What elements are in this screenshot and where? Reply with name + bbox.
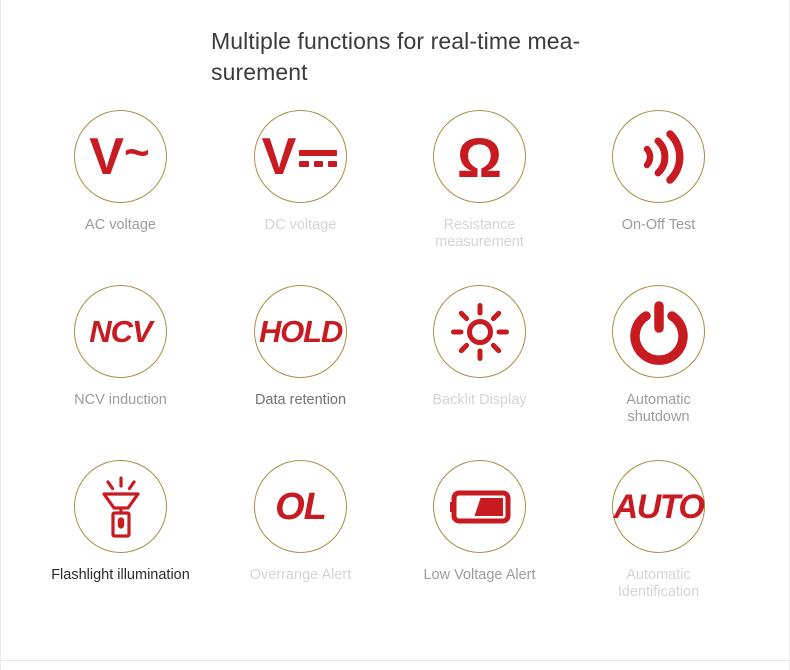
feature-infographic: Multiple functions for real-time mea- su… — [1, 0, 789, 670]
data-hold-icon: HOLD — [254, 285, 347, 378]
feature-label: On-Off Test — [622, 217, 696, 234]
hold-glyph: HOLD — [259, 316, 342, 347]
flashlight-icon — [74, 460, 167, 553]
feature-resistance[interactable]: Ω Resistance measurement — [390, 110, 569, 285]
feature-dc-voltage[interactable]: V DC voltage — [211, 110, 390, 285]
feature-data-hold[interactable]: HOLD Data retention — [211, 285, 390, 460]
feature-label: Resistance measurement — [435, 217, 524, 250]
bottom-divider — [1, 660, 789, 661]
auto-range-icon: AUTO — [612, 460, 705, 553]
ncv-glyph: NCV — [89, 316, 151, 347]
feature-continuity[interactable]: On-Off Test — [569, 110, 748, 285]
feature-grid: V ~ AC voltage V DC voltage — [1, 110, 790, 630]
ac-voltage-icon: V ~ — [74, 110, 167, 203]
feature-label: Low Voltage Alert — [423, 567, 535, 584]
auto-power-off-icon — [612, 285, 705, 378]
feature-label: Automatic shutdown — [626, 392, 690, 425]
feature-flashlight[interactable]: Flashlight illumination — [31, 460, 210, 630]
feature-label: Automatic Identification — [618, 567, 699, 600]
feature-label: DC voltage — [265, 217, 337, 234]
dc-bars-symbol — [299, 150, 337, 167]
page-title: Multiple functions for real-time mea- su… — [211, 26, 611, 88]
feature-low-battery[interactable]: Low Voltage Alert — [390, 460, 569, 630]
auto-glyph: AUTO — [614, 490, 704, 524]
voltage-letter: V — [89, 131, 123, 183]
feature-ac-voltage[interactable]: V ~ AC voltage — [31, 110, 210, 285]
ol-glyph: OL — [275, 488, 326, 526]
feature-backlight[interactable]: Backlit Display — [390, 285, 569, 460]
feature-overload[interactable]: OL Overrange Alert — [211, 460, 390, 630]
dc-voltage-icon: V — [254, 110, 347, 203]
backlight-sun-icon — [433, 285, 526, 378]
voltage-letter: V — [262, 131, 296, 183]
feature-label: AC voltage — [85, 217, 156, 234]
ohm-glyph: Ω — [457, 130, 502, 186]
resistance-ohm-icon: Ω — [433, 110, 526, 203]
feature-auto-range[interactable]: AUTO Automatic Identification — [569, 460, 748, 630]
ncv-icon: NCV — [74, 285, 167, 378]
feature-row: V ~ AC voltage V DC voltage — [1, 110, 790, 285]
feature-auto-power-off[interactable]: Automatic shutdown — [569, 285, 748, 460]
feature-ncv[interactable]: NCV NCV induction — [31, 285, 210, 460]
low-battery-icon — [433, 460, 526, 553]
feature-row: NCV NCV induction HOLD Data retention — [1, 285, 790, 460]
ac-wave-symbol: ~ — [124, 131, 150, 175]
feature-label: Backlit Display — [432, 392, 526, 409]
feature-label: Overrange Alert — [250, 567, 352, 584]
overload-ol-icon: OL — [254, 460, 347, 553]
feature-label: Flashlight illumination — [51, 567, 190, 584]
feature-row: Flashlight illumination OL Overrange Ale… — [1, 460, 790, 630]
feature-label: Data retention — [255, 392, 346, 409]
continuity-test-icon — [612, 110, 705, 203]
feature-label: NCV induction — [74, 392, 167, 409]
